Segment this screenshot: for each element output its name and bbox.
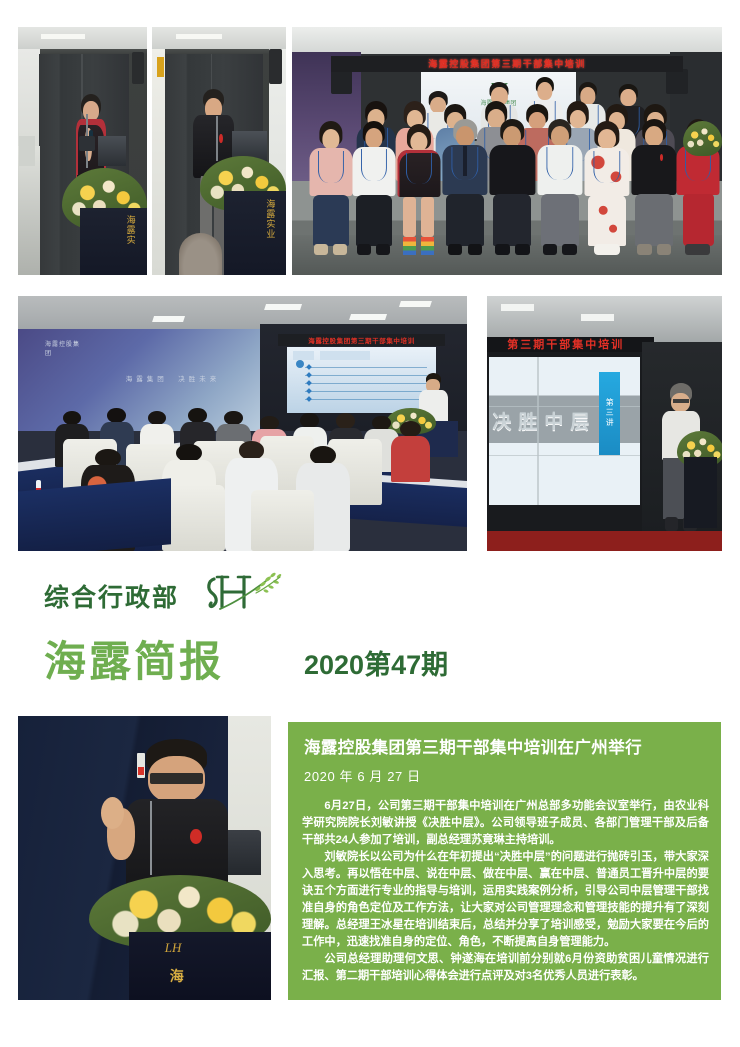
article-date: 2020 年 6 月 27 日 (304, 766, 421, 785)
classroom-banner-text: 海露控股集团第三期干部集中培训 (308, 335, 415, 345)
lh-monogram-logo (200, 569, 300, 615)
article-paragraph-2: 刘敏院长以公司为什么在年初提出“决胜中层”的问题进行抛砖引玉，带大家深入思考。再… (302, 849, 709, 951)
department-title: 综合行政部 (44, 578, 179, 614)
podium-logo-text: LH (165, 940, 182, 956)
article-paragraph-1: 6月27日，公司第三期干部集中培训在广州总部多功能会议室举行，由农业科学研究院院… (302, 798, 709, 849)
article-paragraph-3: 公司总经理助理何文思、钟遂海在培训前分别就6月份资助贫困儿童情况进行汇报、第二期… (302, 951, 709, 985)
article-body: 6月27日，公司第三期干部集中培训在广州总部多功能会议室举行，由农业科学研究院院… (302, 798, 709, 985)
podium-plaque-text: 海露实 (89, 215, 137, 245)
article-headline: 海露控股集团第三期干部集中培训在广州举行 (304, 734, 709, 758)
lecture-banner: 第三期干部集中培训 (487, 337, 654, 352)
photo-speaker-bottom: LH 海 (18, 716, 271, 1000)
classroom-banner: 海露控股集团第三期干部集中培训 (278, 334, 444, 345)
training-banner-text: 海露控股集团第三期干部集中培训 (428, 57, 586, 70)
article-card: 海露控股集团第三期干部集中培训在广州举行 2020 年 6 月 27 日 6月2… (288, 722, 721, 1000)
lecture-banner-text: 第三期干部集中培训 (507, 336, 624, 352)
screen-tab-text: 第三讲 (604, 398, 615, 428)
newsletter-brand-title: 海露简报 (44, 628, 224, 689)
screen-tab: 第三讲 (599, 372, 620, 455)
training-banner: 海露控股集团第三期干部集中培训 (331, 56, 684, 72)
issue-number: 2020第47期 (304, 643, 448, 682)
photo-group-portrait: 海露控股集团第三期干部集中培训 LH 海露控股集团 第三期 (292, 27, 722, 275)
photo-lecturer-screen: 第三期干部集中培训 决胜中层 第三讲 (487, 296, 722, 551)
photo-speaker-male-podium: 海露实业 (152, 27, 286, 275)
podium-plaque-text: 海露实业 (233, 199, 277, 239)
newsletter-header: 综合行政部 (0, 565, 740, 695)
photo-speaker-female: 海露实 (18, 27, 147, 275)
podium-brand-char: 海 (170, 966, 184, 986)
photo-classroom: 海露控股集团 海露集团 决胜未来 海露控股集团第三期干部集中培训 (18, 296, 467, 551)
screen-title-text: 决胜中层 (492, 407, 596, 434)
newsletter-page: 海露实 海露实业 (0, 0, 740, 1047)
